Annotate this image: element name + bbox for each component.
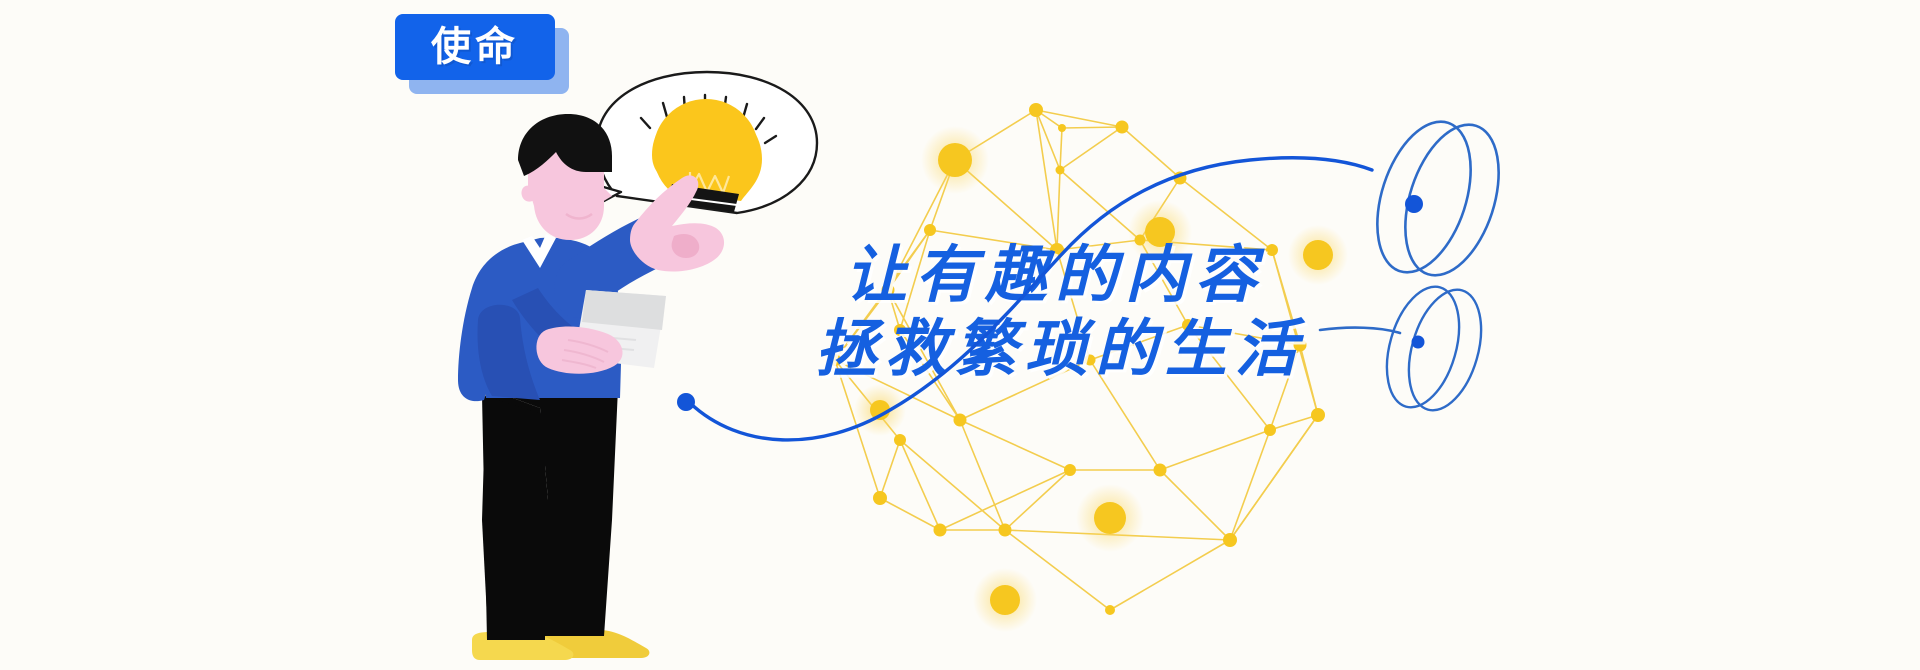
orbit-ring-upper — [1360, 110, 1516, 287]
hero-banner: 让有趣的内容 拯救繁琐的生活 — [0, 0, 1920, 670]
badge-label: 使命 — [431, 27, 519, 67]
mission-badge[interactable]: 使命 — [395, 14, 570, 96]
orbit-and-swoosh — [0, 0, 1920, 670]
blue-swoosh-curve — [677, 158, 1372, 440]
orbit-ring-lower — [1320, 278, 1494, 418]
badge-body[interactable]: 使命 — [395, 14, 555, 80]
